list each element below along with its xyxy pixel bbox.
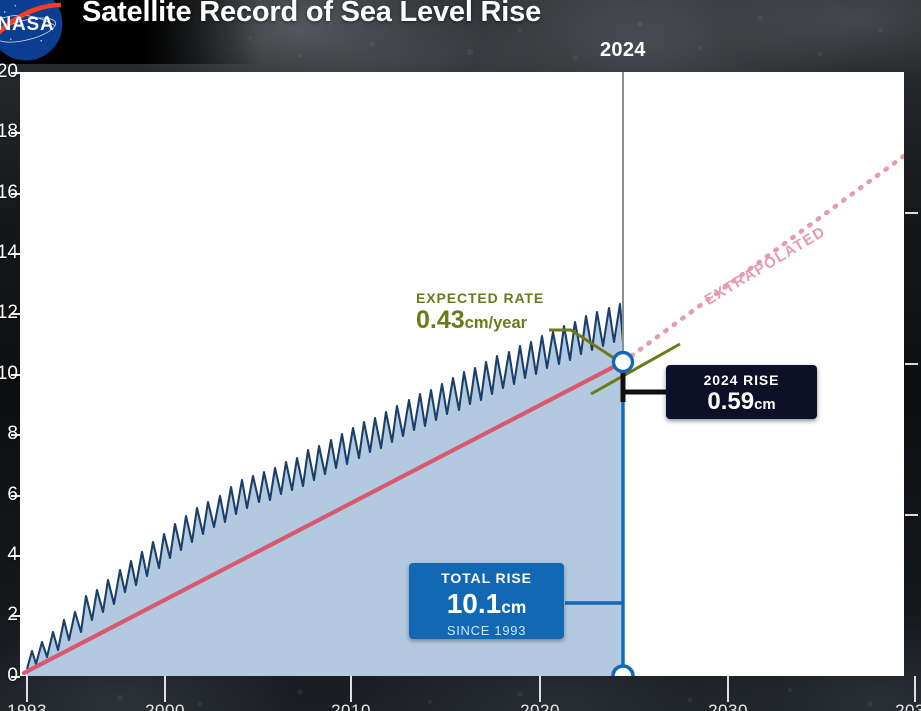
x-tick-mark	[26, 676, 28, 702]
total-rise-callout[interactable]: TOTAL RISE 10.1cm SINCE 1993	[409, 563, 564, 639]
value-marker-2024[interactable]	[614, 353, 633, 372]
chart-canvas: NASA Satellite Record of Sea Level Rise …	[0, 0, 921, 711]
nasa-meatball-logo: NASA	[0, 0, 64, 62]
y-tick-mark	[11, 313, 20, 315]
rise-2024-value: 0.59	[707, 388, 754, 415]
y-tick-mark-right	[905, 212, 918, 214]
y-tick-mark	[11, 132, 20, 134]
page-title: Satellite Record of Sea Level Rise	[82, 0, 541, 29]
total-rise-heading: TOTAL RISE	[409, 563, 564, 586]
total-rise-value-row: 10.1cm	[409, 586, 564, 618]
x-tick-mark	[914, 676, 916, 702]
y-tick-mark	[11, 555, 20, 557]
expected-rate-value: 0.43	[416, 306, 465, 334]
svg-text:NASA: NASA	[0, 14, 54, 35]
x-tick-label-2010: 2010	[331, 701, 371, 711]
total-rise-unit: cm	[501, 597, 526, 617]
y-tick-mark	[11, 253, 20, 255]
expected-rate-unit: cm/year	[465, 314, 527, 332]
x-tick-label-2000: 2000	[145, 701, 185, 711]
x-tick-mark	[539, 676, 541, 702]
total-rise-value: 10.1	[447, 588, 502, 619]
expected-rate-heading: EXPECTED RATE	[416, 290, 544, 306]
y-tick-mark	[11, 374, 20, 376]
x-tick-mark	[164, 676, 166, 702]
x-tick-label-2030: 2030	[708, 701, 748, 711]
expected-rate-value-row: 0.43cm/year	[416, 307, 544, 333]
rise-2024-unit: cm	[754, 397, 776, 413]
rise-2024-value-row: 0.59cm	[666, 388, 817, 414]
y-tick-mark	[11, 615, 20, 617]
y-tick-mark	[11, 676, 20, 678]
expected-rate-annotation: EXPECTED RATE 0.43cm/year	[416, 290, 544, 333]
x-tick-label-2035: 2035	[895, 701, 921, 711]
y-tick-mark	[11, 72, 20, 74]
baseline-marker-2024[interactable]	[613, 666, 633, 676]
y-tick-mark	[11, 495, 20, 497]
x-tick-label-2020: 2020	[520, 701, 560, 711]
y-tick-mark-right	[905, 514, 918, 516]
x-tick-mark	[350, 676, 352, 702]
x-tick-label-1993: 1993	[7, 701, 47, 711]
total-rise-subtitle: SINCE 1993	[409, 619, 564, 638]
y-tick-mark	[11, 193, 20, 195]
rise-2024-callout[interactable]: 2024 RISE 0.59cm	[666, 365, 817, 419]
year-marker-label: 2024	[600, 39, 646, 62]
y-tick-mark-right	[905, 363, 918, 365]
rise-2024-heading: 2024 RISE	[666, 365, 817, 388]
y-tick-mark	[11, 434, 20, 436]
x-tick-mark	[727, 676, 729, 702]
